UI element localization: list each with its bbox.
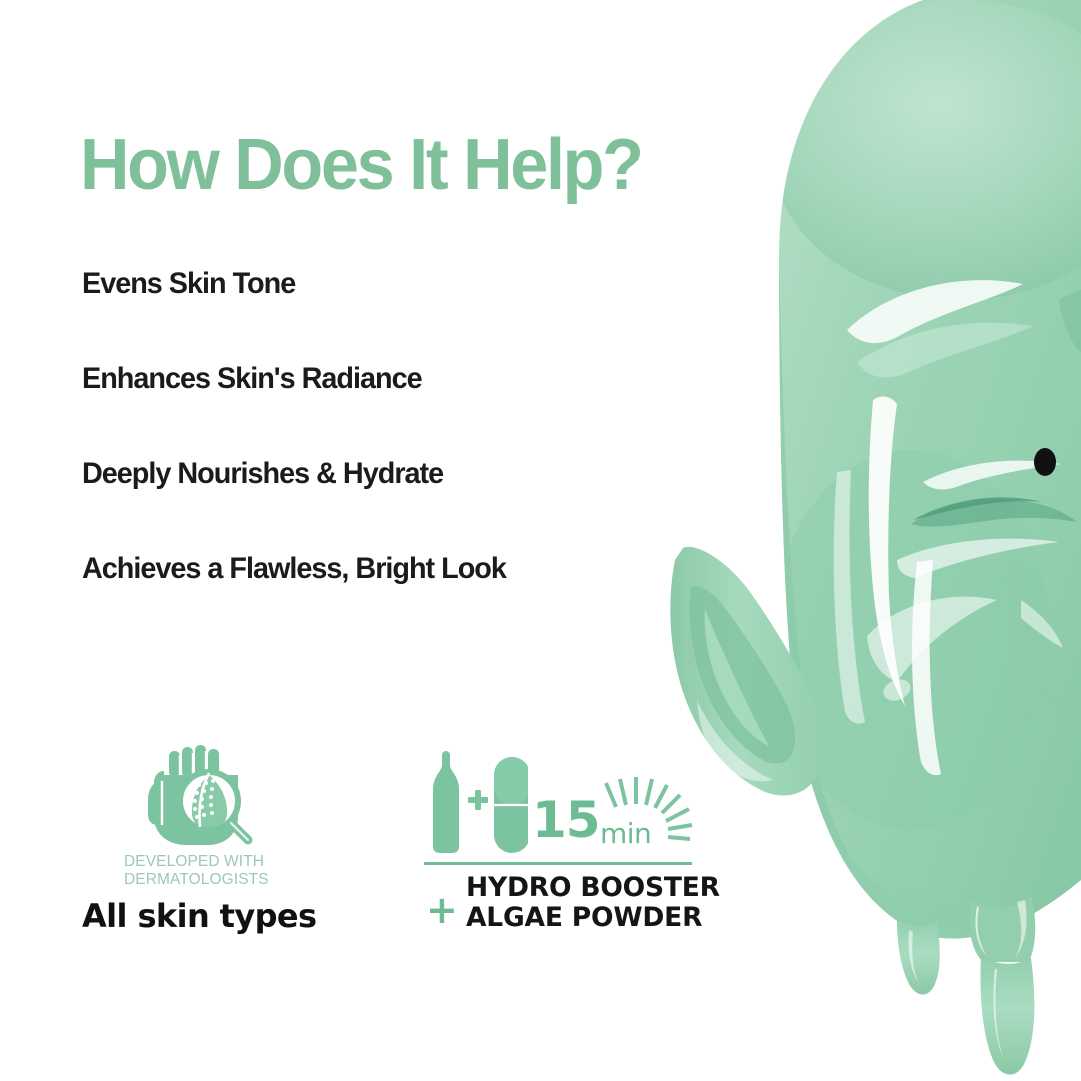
benefits-list: Evens Skin Tone Enhances Skin's Radiance… <box>82 262 702 642</box>
ampoule-icon <box>433 751 459 853</box>
ampoule-capsule-icons <box>424 751 528 859</box>
all-skin-types-label: All skin types <box>82 897 348 935</box>
hydro-product-lines: HYDRO BOOSTER ALGAE POWDER <box>466 873 720 933</box>
derm-caption-line-2: DERMATOLOGISTS <box>124 871 348 889</box>
hand-magnifier-skin-icon <box>142 745 260 849</box>
badges-row: DEVELOPED WITH DERMATOLOGISTS All skin t… <box>0 745 700 945</box>
divider <box>424 862 692 865</box>
product-line-1: HYDRO BOOSTER <box>466 873 720 903</box>
product-line-2: ALGAE POWDER <box>466 903 720 933</box>
page-title: How Does It Help? <box>80 124 642 206</box>
hydro-booster-badge: 15 min + HYDRO BOOSTER ALGAE POWDER <box>424 749 694 861</box>
time-unit: min <box>600 817 651 850</box>
derm-caption-line-1: DEVELOPED WITH <box>124 853 348 871</box>
dermatologist-badge: DEVELOPED WITH DERMATOLOGISTS All skin t… <box>118 745 348 935</box>
benefit-item: Enhances Skin's Radiance <box>82 357 677 452</box>
plus-mark: + <box>426 895 458 925</box>
benefit-item: Achieves a Flawless, Bright Look <box>82 547 677 642</box>
benefit-item: Deeply Nourishes & Hydrate <box>82 452 677 547</box>
glossy-mint-face-illustration <box>661 0 1081 1081</box>
plus-icon <box>468 790 488 810</box>
capsule-icon <box>494 757 528 853</box>
treatment-time: 15 min <box>532 789 702 859</box>
benefit-item: Evens Skin Tone <box>82 262 677 357</box>
derm-caption: DEVELOPED WITH DERMATOLOGISTS <box>124 853 348 888</box>
poster-canvas: How Does It Help? Evens Skin Tone Enhanc… <box>0 0 1081 1081</box>
time-value: 15 <box>532 791 600 849</box>
